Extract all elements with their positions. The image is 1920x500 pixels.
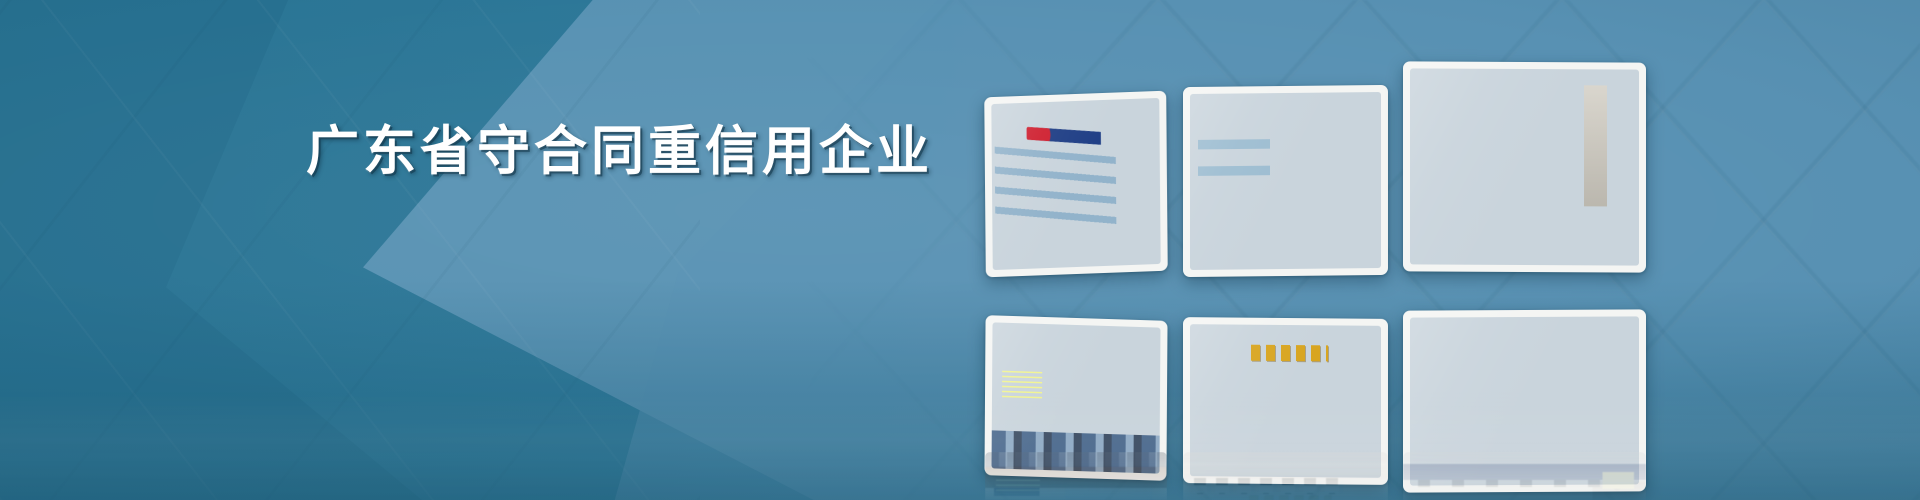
photo-frame-factory-exterior[interactable] xyxy=(984,91,1168,278)
headline-block: 广东省守合同重信用企业 xyxy=(306,122,926,183)
photo-frame-meeting-room[interactable] xyxy=(984,315,1167,481)
photo-plant-yard xyxy=(1190,92,1381,270)
company-hero-banner: 广东省守合同重信用企业 xyxy=(0,0,1920,500)
photo-frame-team-group[interactable] xyxy=(1183,317,1388,485)
photo-frame-warehouse[interactable] xyxy=(1403,61,1646,272)
photo-grid xyxy=(975,30,1665,460)
photo-team-group xyxy=(1190,324,1381,478)
photo-warehouse xyxy=(1410,68,1639,265)
photo-frame-office[interactable] xyxy=(1403,309,1646,492)
photo-frame-plant-yard[interactable] xyxy=(1183,85,1388,277)
photo-office xyxy=(1410,316,1639,485)
photo-meeting-room xyxy=(992,322,1161,473)
banner-headline: 广东省守合同重信用企业 xyxy=(306,122,926,183)
photo-collage xyxy=(975,30,1665,460)
photo-factory-exterior xyxy=(991,98,1160,270)
